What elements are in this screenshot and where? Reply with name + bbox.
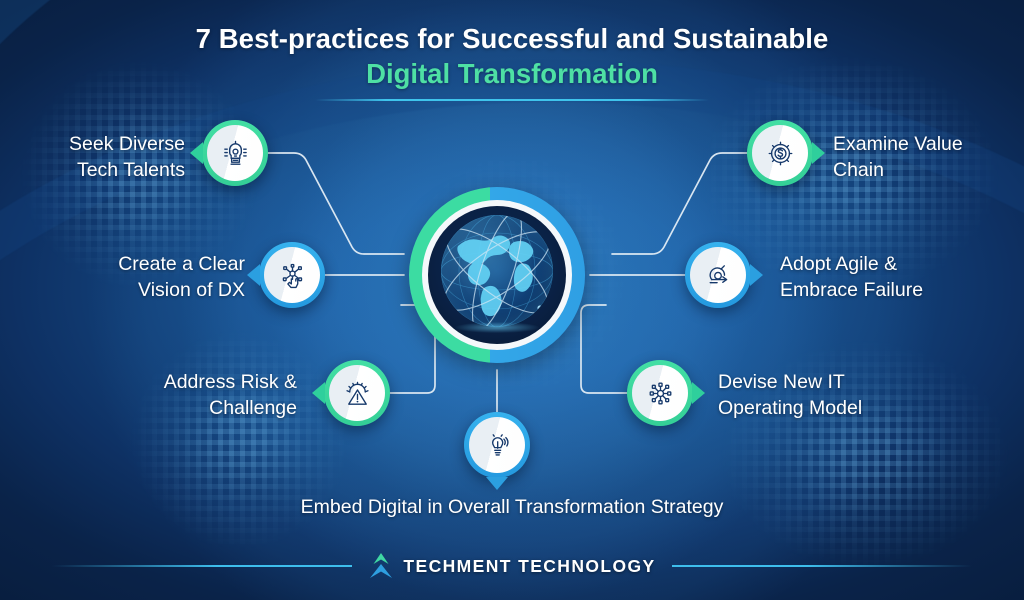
chevron-arrow-logo bbox=[368, 552, 394, 580]
node-pointer bbox=[692, 382, 705, 404]
label-embed-digital-in-overall-transformation-strategy: Embed Digital in Overall Transformation … bbox=[182, 494, 842, 520]
node-pointer bbox=[812, 142, 825, 164]
node-seek-diverse-tech-talents[interactable] bbox=[202, 120, 268, 186]
node-disc bbox=[264, 247, 320, 303]
node-create-clear-vision-of-dx[interactable] bbox=[259, 242, 325, 308]
node-address-risk-and-challenge[interactable] bbox=[324, 360, 390, 426]
head-lightbulb-icon bbox=[220, 138, 251, 169]
label-examine-value-chain: Examine Value Chain bbox=[833, 131, 1023, 183]
label-devise-new-it-operating-model: Devise New IT Operating Model bbox=[718, 369, 948, 421]
infographic-canvas: 7 Best-practices for Successful and Sust… bbox=[0, 0, 1024, 600]
node-pointer bbox=[312, 382, 325, 404]
rocket-speed-icon bbox=[703, 260, 734, 291]
node-disc bbox=[632, 365, 688, 421]
lightbulb-gear-icon bbox=[482, 430, 513, 461]
node-disc bbox=[690, 247, 746, 303]
footer-rule-right bbox=[672, 565, 972, 567]
node-examine-value-chain[interactable] bbox=[747, 120, 813, 186]
globe-inner-disc bbox=[428, 206, 566, 344]
brand-lockup: TECHMENT TECHNOLOGY bbox=[368, 552, 655, 580]
node-disc bbox=[469, 417, 525, 473]
header: 7 Best-practices for Successful and Sust… bbox=[0, 22, 1024, 101]
warning-gear-icon bbox=[342, 378, 373, 409]
label-address-risk-and-challenge: Address Risk & Challenge bbox=[92, 369, 297, 421]
footer-rule-left bbox=[52, 565, 352, 567]
dollar-coin-icon bbox=[765, 138, 796, 169]
label-adopt-agile-and-embrace-failure: Adopt Agile & Embrace Failure bbox=[780, 251, 1010, 303]
globe-graphic bbox=[409, 187, 585, 363]
node-devise-new-it-operating-model[interactable] bbox=[627, 360, 693, 426]
globe-base-glow bbox=[455, 322, 539, 333]
node-pointer bbox=[750, 264, 763, 286]
earth-continents-and-orbits bbox=[428, 206, 566, 340]
network-hub-icon bbox=[645, 378, 676, 409]
brand-name: TECHMENT TECHNOLOGY bbox=[403, 556, 655, 577]
label-seek-diverse-tech-talents: Seek Diverse Tech Talents bbox=[10, 131, 185, 183]
page-title-line-2: Digital Transformation bbox=[0, 57, 1024, 91]
hand-circuit-icon bbox=[277, 260, 308, 291]
node-adopt-agile-and-embrace-failure[interactable] bbox=[685, 242, 751, 308]
node-embed-digital-in-overall-transformation-strategy[interactable] bbox=[464, 412, 530, 478]
node-disc bbox=[207, 125, 263, 181]
node-pointer bbox=[190, 142, 203, 164]
node-pointer bbox=[486, 477, 508, 490]
page-title-line-1: 7 Best-practices for Successful and Sust… bbox=[0, 22, 1024, 56]
footer: TECHMENT TECHNOLOGY bbox=[0, 552, 1024, 580]
label-create-clear-vision-of-dx: Create a Clear Vision of DX bbox=[40, 251, 245, 303]
title-underline bbox=[315, 99, 709, 101]
node-disc bbox=[752, 125, 808, 181]
node-pointer bbox=[247, 264, 260, 286]
node-disc bbox=[329, 365, 385, 421]
